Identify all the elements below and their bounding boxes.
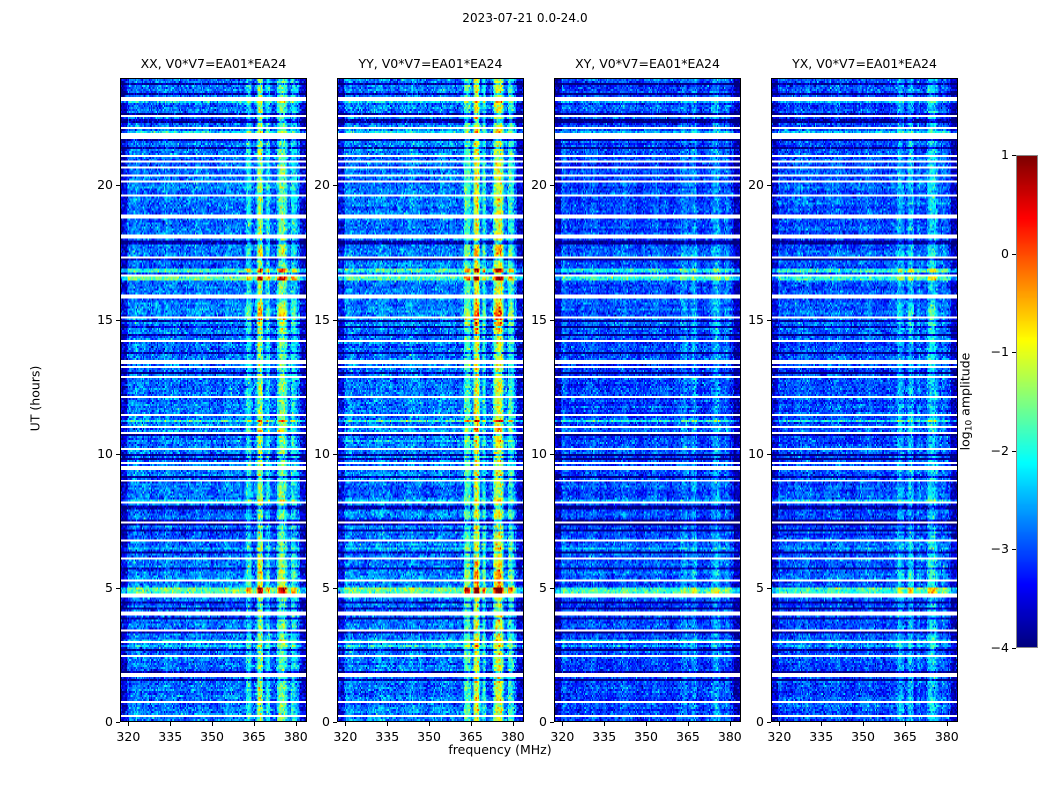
colorbar-tickmark bbox=[1012, 451, 1016, 452]
y-tickmark bbox=[550, 454, 554, 455]
colorbar-tick-label: 0 bbox=[966, 246, 1009, 261]
y-tickmark bbox=[550, 185, 554, 186]
colorbar-label-subscript: 10 bbox=[964, 419, 974, 430]
y-tickmark bbox=[550, 320, 554, 321]
colorbar-tickmark bbox=[1012, 352, 1016, 353]
x-tickmark bbox=[128, 722, 129, 726]
colorbar-tick-label: 1 bbox=[966, 147, 1009, 162]
x-tick-label: 365 bbox=[883, 729, 927, 744]
y-tick-label: 20 bbox=[287, 177, 330, 192]
x-tickmark bbox=[646, 722, 647, 726]
y-tick-label: 10 bbox=[287, 446, 330, 461]
x-tick-label: 320 bbox=[757, 729, 801, 744]
x-tickmark bbox=[604, 722, 605, 726]
x-tickmark bbox=[429, 722, 430, 726]
x-tickmark bbox=[779, 722, 780, 726]
y-tick-label: 5 bbox=[70, 580, 113, 595]
y-tickmark bbox=[333, 722, 337, 723]
x-tickmark bbox=[947, 722, 948, 726]
waterfall-panel-xy[interactable] bbox=[554, 78, 741, 722]
colorbar-gradient bbox=[1017, 156, 1037, 647]
y-tick-label: 20 bbox=[504, 177, 547, 192]
y-axis-label: UT (hours) bbox=[28, 339, 43, 459]
waterfall-image-yy bbox=[338, 79, 523, 721]
x-tick-label: 380 bbox=[274, 729, 318, 744]
y-tick-label: 0 bbox=[70, 714, 113, 729]
y-tick-label: 10 bbox=[721, 446, 764, 461]
x-tick-label: 350 bbox=[190, 729, 234, 744]
y-tick-label: 20 bbox=[70, 177, 113, 192]
x-tickmark bbox=[562, 722, 563, 726]
y-tickmark bbox=[116, 185, 120, 186]
y-tick-label: 15 bbox=[504, 312, 547, 327]
y-tickmark bbox=[333, 454, 337, 455]
y-tickmark bbox=[333, 320, 337, 321]
x-tick-label: 335 bbox=[799, 729, 843, 744]
colorbar-tick-label: −3 bbox=[966, 541, 1009, 556]
waterfall-image-xy bbox=[555, 79, 740, 721]
colorbar[interactable] bbox=[1016, 155, 1038, 648]
waterfall-panel-yy[interactable] bbox=[337, 78, 524, 722]
x-tick-label: 380 bbox=[925, 729, 969, 744]
y-tick-label: 15 bbox=[721, 312, 764, 327]
y-tickmark bbox=[767, 722, 771, 723]
y-tickmark bbox=[333, 588, 337, 589]
waterfall-panel-xx[interactable] bbox=[120, 78, 307, 722]
y-tick-label: 15 bbox=[287, 312, 330, 327]
x-tick-label: 335 bbox=[148, 729, 192, 744]
y-tickmark bbox=[116, 588, 120, 589]
y-tick-label: 0 bbox=[504, 714, 547, 729]
x-tickmark bbox=[905, 722, 906, 726]
colorbar-tickmark bbox=[1012, 549, 1016, 550]
x-tickmark bbox=[254, 722, 255, 726]
colorbar-tick-label: −4 bbox=[966, 640, 1009, 655]
y-tick-label: 10 bbox=[504, 446, 547, 461]
y-tickmark bbox=[550, 722, 554, 723]
figure-canvas: 2023-07-21 0.0-24.0 XX, V0*V7=EA01*EA243… bbox=[0, 0, 1050, 800]
y-tick-label: 5 bbox=[721, 580, 764, 595]
x-tickmark bbox=[863, 722, 864, 726]
colorbar-tickmark bbox=[1012, 155, 1016, 156]
colorbar-label-prefix: log bbox=[958, 431, 973, 450]
x-tickmark bbox=[345, 722, 346, 726]
x-tickmark bbox=[212, 722, 213, 726]
y-tick-label: 0 bbox=[287, 714, 330, 729]
x-tickmark bbox=[170, 722, 171, 726]
y-tickmark bbox=[767, 320, 771, 321]
y-tickmark bbox=[116, 320, 120, 321]
colorbar-label: log10 amplitude bbox=[958, 331, 975, 471]
x-tickmark bbox=[688, 722, 689, 726]
y-tickmark bbox=[550, 588, 554, 589]
y-tick-label: 5 bbox=[504, 580, 547, 595]
y-tickmark bbox=[333, 185, 337, 186]
waterfall-image-xx bbox=[121, 79, 306, 721]
y-tick-label: 10 bbox=[70, 446, 113, 461]
y-tickmark bbox=[767, 185, 771, 186]
y-tickmark bbox=[116, 454, 120, 455]
x-tickmark bbox=[821, 722, 822, 726]
x-tick-label: 320 bbox=[106, 729, 150, 744]
y-tickmark bbox=[116, 722, 120, 723]
colorbar-label-suffix: amplitude bbox=[958, 352, 973, 419]
y-tickmark bbox=[767, 454, 771, 455]
y-tick-label: 20 bbox=[721, 177, 764, 192]
colorbar-tickmark bbox=[1012, 254, 1016, 255]
figure-suptitle: 2023-07-21 0.0-24.0 bbox=[0, 11, 1050, 25]
panel-title-yx: YX, V0*V7=EA01*EA24 bbox=[731, 56, 998, 71]
colorbar-tickmark bbox=[1012, 648, 1016, 649]
waterfall-image-yx bbox=[772, 79, 957, 721]
x-tickmark bbox=[387, 722, 388, 726]
y-tick-label: 0 bbox=[721, 714, 764, 729]
x-tick-label: 365 bbox=[232, 729, 276, 744]
y-tick-label: 15 bbox=[70, 312, 113, 327]
y-tickmark bbox=[767, 588, 771, 589]
x-axis-label: frequency (MHz) bbox=[320, 742, 680, 757]
x-tick-label: 350 bbox=[841, 729, 885, 744]
x-tick-label: 380 bbox=[708, 729, 752, 744]
x-tickmark bbox=[471, 722, 472, 726]
waterfall-panel-yx[interactable] bbox=[771, 78, 958, 722]
y-tick-label: 5 bbox=[287, 580, 330, 595]
